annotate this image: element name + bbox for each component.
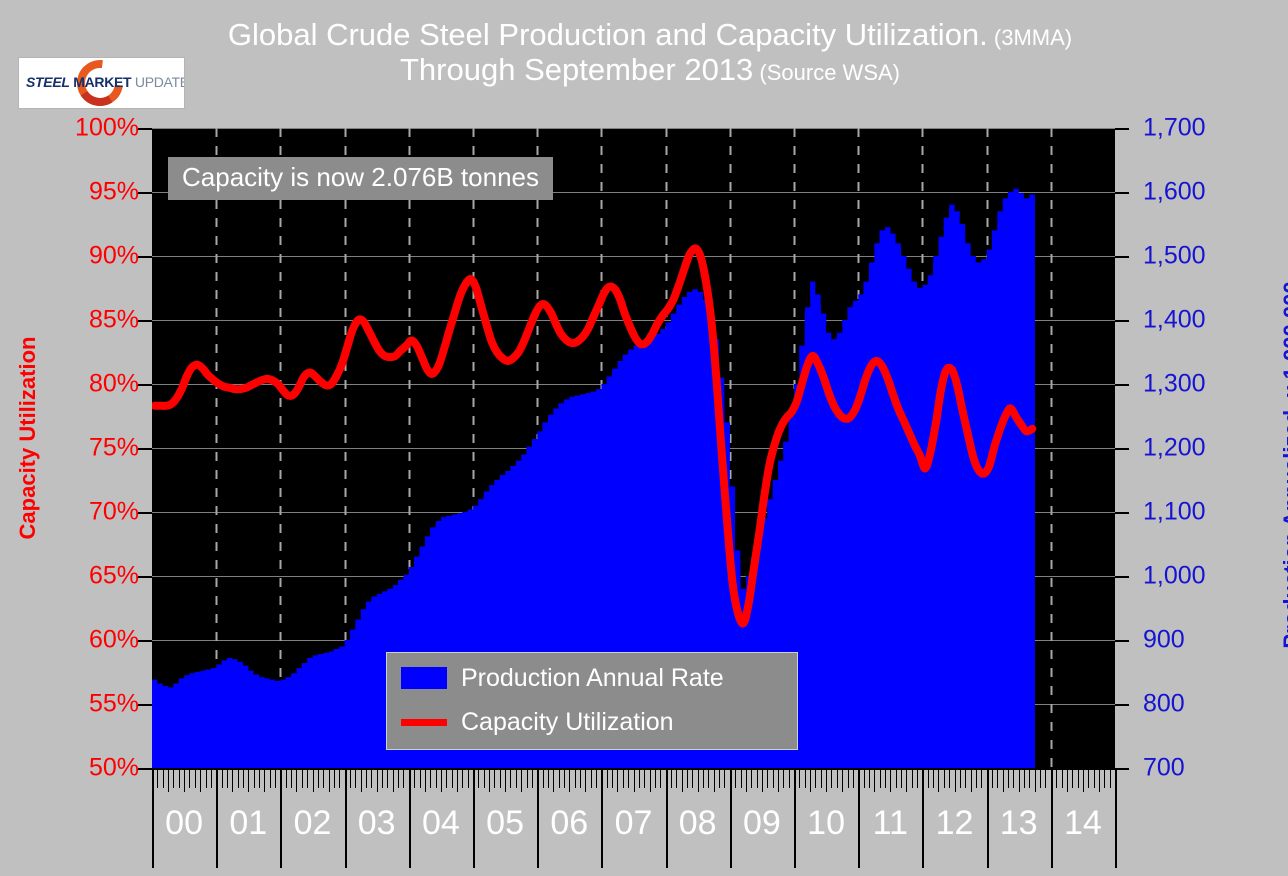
x-axis-month-tick	[778, 768, 779, 792]
x-axis-month-tick	[698, 768, 699, 792]
x-axis-month-tick	[831, 768, 832, 788]
y-axis-right-tickmark	[1115, 704, 1129, 706]
x-axis-month-tick	[420, 768, 421, 788]
x-axis-month-tick	[286, 768, 287, 788]
x-axis-month-tick	[1083, 768, 1084, 792]
x-axis-year-label: 13	[987, 806, 1051, 840]
x-axis-month-tick	[650, 768, 651, 792]
x-axis-month-tick	[227, 768, 228, 788]
legend-swatch-production-icon	[401, 667, 447, 689]
x-axis-month-tick	[783, 768, 784, 788]
chart-title-block: Global Crude Steel Production and Capaci…	[100, 18, 1200, 87]
y-axis-right-tickmark	[1115, 192, 1129, 194]
x-axis-month-tick	[575, 768, 576, 788]
logo-word-steel: STEEL	[26, 74, 70, 90]
x-axis-month-tick	[559, 768, 560, 788]
x-axis-month-tick	[452, 768, 453, 788]
x-axis-month-tick	[543, 768, 544, 788]
y-axis-left-tick-label: 95%	[39, 180, 139, 205]
y-axis-right-tick-label: 1,300	[1143, 372, 1253, 397]
x-axis-month-tick	[746, 768, 747, 792]
chart-page: STEEL MARKET UPDATE Global Crude Steel P…	[0, 0, 1288, 876]
x-axis-month-tick	[195, 768, 196, 788]
y-axis-right-tick-label: 1,400	[1143, 308, 1253, 333]
x-axis-month-tick	[1019, 768, 1020, 792]
legend-label-production: Production Annual Rate	[461, 664, 724, 693]
x-axis-month-tick	[960, 768, 961, 788]
x-axis-year-label: 08	[666, 806, 730, 840]
y-axis-right-title: Production Annualized. x 1,000,000	[1279, 165, 1288, 765]
x-axis-month-tick	[516, 768, 517, 788]
x-axis-month-tick	[1029, 768, 1030, 788]
x-axis-month-tick	[880, 768, 881, 788]
x-axis-year-label: 10	[794, 806, 858, 840]
y-axis-left-tick-label: 65%	[39, 564, 139, 589]
x-axis-month-tick	[248, 768, 249, 792]
x-axis-month-tick	[548, 768, 549, 788]
x-axis-month-tick	[468, 768, 469, 788]
x-axis-month-tick	[692, 768, 693, 788]
y-axis-right-tick-label: 1,100	[1143, 500, 1253, 525]
y-axis-left-tickmark	[138, 320, 152, 322]
x-axis-month-tick	[724, 768, 725, 788]
x-axis-month-tick	[869, 768, 870, 788]
y-axis-right-tickmark	[1115, 384, 1129, 386]
x-axis-month-tick	[484, 768, 485, 788]
x-axis-month-tick	[500, 768, 501, 788]
y-axis-left-title: Capacity Utilization	[15, 218, 41, 658]
x-axis-month-tick	[222, 768, 223, 788]
legend-item-production: Production Annual Rate	[401, 658, 724, 698]
x-axis-month-tick	[1078, 768, 1079, 788]
x-axis-month-tick	[259, 768, 260, 788]
x-axis-month-tick	[607, 768, 608, 788]
x-axis-month-tick	[494, 768, 495, 788]
x-axis-month-tick	[532, 768, 533, 788]
x-axis-month-tick	[906, 768, 907, 792]
chart-title-3mma-note: (3MMA)	[988, 25, 1072, 50]
x-axis-month-tick	[671, 768, 672, 788]
x-axis-month-tick	[441, 768, 442, 792]
y-axis-left-tick-label: 55%	[39, 692, 139, 717]
x-axis-month-tick	[184, 768, 185, 792]
y-axis-left-tickmark	[138, 384, 152, 386]
x-axis-month-tick	[339, 768, 340, 788]
x-axis-month-tick	[302, 768, 303, 788]
x-axis-month-tick	[318, 768, 319, 788]
logo-word-update: UPDATE	[131, 74, 185, 90]
x-axis-month-tick	[762, 768, 763, 792]
x-axis-month-tick	[355, 768, 356, 788]
x-axis-month-tick	[890, 768, 891, 792]
legend-swatch-utilization-icon	[401, 719, 447, 726]
y-axis-right-tick-label: 1,700	[1143, 116, 1253, 141]
x-axis-month-tick	[553, 768, 554, 792]
y-axis-left-tickmark	[138, 640, 152, 642]
x-axis-year-label: 14	[1051, 806, 1115, 840]
x-axis-month-tick	[569, 768, 570, 792]
x-axis-month-tick	[826, 768, 827, 792]
y-axis-left-tick-label: 80%	[39, 372, 139, 397]
logo-wordmark: STEEL MARKET UPDATE	[26, 74, 181, 90]
x-axis-month-tick	[564, 768, 565, 788]
x-axis-month-tick	[527, 768, 528, 788]
x-axis-month-tick	[917, 768, 918, 788]
y-axis-right-tickmark	[1115, 512, 1129, 514]
y-axis-right-tick-label: 1,000	[1143, 564, 1253, 589]
x-axis-month-tick	[1045, 768, 1046, 788]
y-axis-right-tick-label: 1,600	[1143, 180, 1253, 205]
x-axis-month-tick	[848, 768, 849, 788]
x-axis-month-tick	[789, 768, 790, 788]
x-axis-year-label: 03	[345, 806, 409, 840]
chart-subtitle-period: Through September 2013	[400, 52, 753, 87]
x-axis-month-tick	[682, 768, 683, 792]
x-axis-year-label: 04	[409, 806, 473, 840]
x-axis-month-tick	[773, 768, 774, 788]
x-axis-month-tick	[997, 768, 998, 788]
y-axis-right-tickmark	[1115, 448, 1129, 450]
x-axis-month-tick	[634, 768, 635, 792]
x-axis-month-tick	[708, 768, 709, 788]
x-axis-month-tick	[173, 768, 174, 788]
x-axis-month-tick	[928, 768, 929, 788]
x-axis-month-tick	[751, 768, 752, 788]
x-axis-month-tick	[623, 768, 624, 788]
x-axis-month-tick	[387, 768, 388, 788]
x-axis-year-label: 00	[152, 806, 216, 840]
chart-title-line-2: Through September 2013 (Source WSA)	[100, 53, 1200, 88]
chart-subtitle-source: (Source WSA)	[753, 60, 900, 85]
x-axis-month-tick	[821, 768, 822, 788]
x-axis-month-tick	[944, 768, 945, 788]
x-axis-month-tick	[489, 768, 490, 792]
y-axis-left-tickmark	[138, 128, 152, 130]
x-axis-month-tick	[168, 768, 169, 792]
x-axis-month-tick	[232, 768, 233, 792]
x-axis-month-tick	[1035, 768, 1036, 792]
x-axis-month-tick	[264, 768, 265, 792]
logo-word-market: MARKET	[70, 74, 132, 90]
x-axis-month-tick	[628, 768, 629, 788]
y-axis-right-tickmark	[1115, 576, 1129, 578]
y-axis-left-tickmark	[138, 576, 152, 578]
x-axis-month-tick	[238, 768, 239, 788]
x-axis-month-tick	[842, 768, 843, 792]
x-axis-month-tick	[644, 768, 645, 788]
y-axis-left-tickmark	[138, 704, 152, 706]
x-axis-month-tick	[446, 768, 447, 788]
x-axis-month-tick	[275, 768, 276, 788]
x-axis-month-tick	[179, 768, 180, 788]
x-axis-month-tick	[580, 768, 581, 788]
x-axis-month-tick	[703, 768, 704, 788]
capacity-annotation: Capacity is now 2.076B tonnes	[168, 157, 553, 200]
x-axis-month-tick	[965, 768, 966, 788]
x-axis-month-tick	[254, 768, 255, 788]
x-axis-month-tick	[596, 768, 597, 788]
x-axis-month-tick	[864, 768, 865, 788]
x-axis-year-separator	[1115, 768, 1117, 868]
chart-title-main: Global Crude Steel Production and Capaci…	[228, 17, 988, 52]
x-axis-year-label: 05	[473, 806, 537, 840]
x-axis-month-tick	[163, 768, 164, 788]
x-axis-month-tick	[992, 768, 993, 788]
x-axis-month-tick	[313, 768, 314, 792]
x-axis-year-label: 02	[281, 806, 345, 840]
x-axis-month-tick	[976, 768, 977, 788]
x-axis-month-tick	[371, 768, 372, 788]
x-axis-month-tick	[243, 768, 244, 788]
x-axis-month-tick	[837, 768, 838, 788]
x-axis-month-tick	[329, 768, 330, 792]
x-axis-month-tick	[805, 768, 806, 788]
x-axis-month-tick	[933, 768, 934, 788]
x-axis-month-tick	[815, 768, 816, 788]
y-axis-right-tick-label: 700	[1143, 756, 1253, 781]
x-axis-month-tick	[157, 768, 158, 788]
x-axis-month-tick	[1062, 768, 1063, 788]
x-axis-month-tick	[1008, 768, 1009, 788]
y-axis-left-tickmark	[138, 512, 152, 514]
y-axis-left-tick-label: 60%	[39, 628, 139, 653]
y-axis-left-tickmark	[138, 256, 152, 258]
x-axis-month-tick	[377, 768, 378, 792]
x-axis-month-tick	[896, 768, 897, 788]
x-axis-month-tick	[403, 768, 404, 788]
x-axis-month-tick	[1040, 768, 1041, 788]
x-axis-month-tick	[660, 768, 661, 788]
y-axis-left-tick-label: 50%	[39, 756, 139, 781]
x-axis-month-tick	[206, 768, 207, 788]
x-axis-month-tick	[398, 768, 399, 788]
x-axis-month-tick	[1013, 768, 1014, 788]
x-axis-month-tick	[1072, 768, 1073, 788]
chart-title-line-1: Global Crude Steel Production and Capaci…	[100, 18, 1200, 53]
x-axis-month-tick	[714, 768, 715, 792]
x-axis-month-tick	[462, 768, 463, 788]
x-axis-month-tick	[296, 768, 297, 792]
x-axis-month-tick	[270, 768, 271, 788]
x-axis-month-tick	[591, 768, 592, 788]
chart-legend: Production Annual Rate Capacity Utilizat…	[386, 652, 798, 750]
y-axis-left-tick-label: 70%	[39, 500, 139, 525]
x-axis-year-label: 06	[537, 806, 601, 840]
y-axis-right-tick-label: 1,500	[1143, 244, 1253, 269]
x-axis-month-tick	[510, 768, 511, 788]
x-axis-month-tick	[799, 768, 800, 788]
x-axis-month-tick	[971, 768, 972, 792]
x-axis-month-tick	[1067, 768, 1068, 792]
y-axis-right-tickmark	[1115, 128, 1129, 130]
x-axis-month-tick	[885, 768, 886, 788]
x-axis-month-tick	[810, 768, 811, 792]
y-axis-left-tick-label: 90%	[39, 244, 139, 269]
x-axis-month-tick	[874, 768, 875, 792]
y-axis-right-tick-label: 800	[1143, 692, 1253, 717]
x-axis-month-tick	[1094, 768, 1095, 788]
x-axis-year-label: 01	[216, 806, 280, 840]
x-axis-month-tick	[1088, 768, 1089, 788]
x-axis-month-tick	[757, 768, 758, 788]
y-axis-right-tickmark	[1115, 640, 1129, 642]
x-axis-month-tick	[430, 768, 431, 788]
x-axis-month-tick	[617, 768, 618, 792]
y-axis-left-tickmark	[138, 192, 152, 194]
x-axis-month-tick	[676, 768, 677, 788]
x-axis-month-tick	[938, 768, 939, 792]
x-axis-month-tick	[655, 768, 656, 788]
legend-item-utilization: Capacity Utilization	[401, 702, 674, 742]
x-axis-month-tick	[307, 768, 308, 788]
y-axis-left-tick-label: 75%	[39, 436, 139, 461]
x-axis-month-tick	[350, 768, 351, 788]
x-axis-month-tick	[436, 768, 437, 788]
x-axis-month-tick	[366, 768, 367, 788]
x-axis-month-tick	[323, 768, 324, 788]
x-axis-month-tick	[414, 768, 415, 788]
x-axis-month-tick	[912, 768, 913, 788]
x-axis-month-tick	[585, 768, 586, 792]
x-axis-month-tick	[291, 768, 292, 788]
x-axis-month-tick	[425, 768, 426, 792]
x-axis-month-tick	[1110, 768, 1111, 788]
x-axis-month-tick	[334, 768, 335, 788]
x-axis-month-tick	[719, 768, 720, 788]
x-axis-year-label: 11	[858, 806, 922, 840]
x-axis-month-tick	[1003, 768, 1004, 792]
x-axis-month-tick	[211, 768, 212, 788]
x-axis-month-tick	[1099, 768, 1100, 792]
x-axis-month-tick	[1024, 768, 1025, 788]
x-axis-month-tick	[393, 768, 394, 792]
x-axis-month-tick	[901, 768, 902, 788]
x-axis-month-tick	[639, 768, 640, 788]
legend-label-utilization: Capacity Utilization	[461, 708, 674, 737]
x-axis-year-label: 12	[923, 806, 987, 840]
x-axis-month-tick	[981, 768, 982, 788]
y-axis-left-tickmark	[138, 448, 152, 450]
x-axis-month-tick	[1104, 768, 1105, 788]
x-axis-tick-band	[152, 768, 1115, 798]
x-axis-month-tick	[478, 768, 479, 788]
y-axis-right-tick-label: 900	[1143, 628, 1253, 653]
y-axis-right-tickmark	[1115, 256, 1129, 258]
x-axis-month-tick	[767, 768, 768, 788]
x-axis-month-tick	[612, 768, 613, 788]
y-axis-right-tick-label: 1,200	[1143, 436, 1253, 461]
y-axis-left-tick-label: 85%	[39, 308, 139, 333]
y-axis-right-tickmark	[1115, 320, 1129, 322]
x-axis-month-tick	[361, 768, 362, 792]
x-axis-month-tick	[457, 768, 458, 792]
x-axis-month-tick	[955, 768, 956, 792]
x-axis-year-label: 07	[602, 806, 666, 840]
x-axis-month-tick	[521, 768, 522, 792]
x-axis-month-tick	[1056, 768, 1057, 788]
x-axis-month-tick	[741, 768, 742, 788]
x-axis-year-label: 09	[730, 806, 794, 840]
x-axis-month-tick	[853, 768, 854, 788]
y-axis-left-tick-label: 100%	[39, 116, 139, 141]
x-axis-month-tick	[200, 768, 201, 792]
x-axis-month-tick	[687, 768, 688, 788]
x-axis-month-tick	[505, 768, 506, 792]
x-axis-month-tick	[949, 768, 950, 788]
x-axis-month-tick	[189, 768, 190, 788]
x-axis-month-tick	[735, 768, 736, 788]
x-axis-month-tick	[382, 768, 383, 788]
